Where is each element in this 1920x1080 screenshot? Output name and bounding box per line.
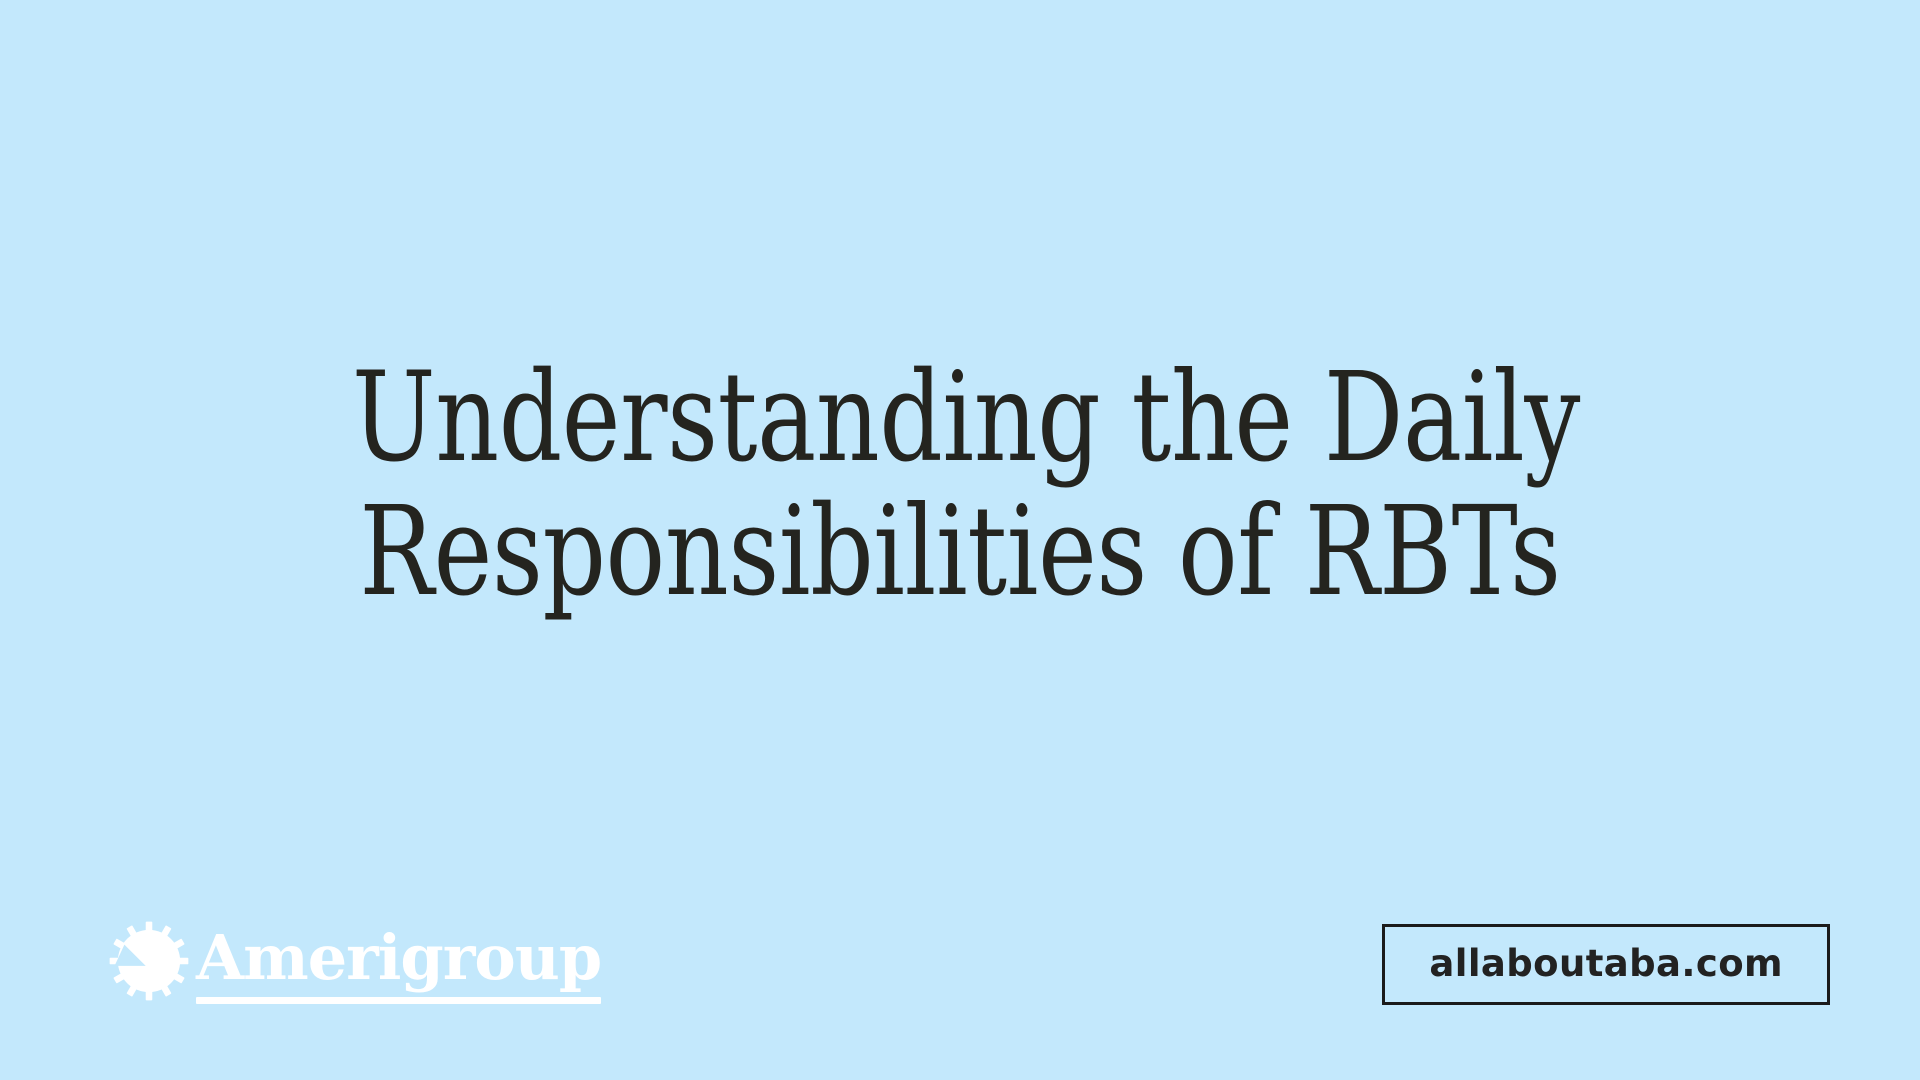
logo-text-wrap: Amerigroup [196,928,601,1004]
website-badge[interactable]: allaboutaba.com [1382,924,1830,1005]
page-title: Understanding the Daily Responsibilities… [0,355,1920,616]
slide-canvas: Understanding the Daily Responsibilities… [0,0,1920,1080]
logo-wordmark: Amerigroup [196,928,601,988]
title-line-1: Understanding the Daily [352,355,1568,481]
logo-underline-rule [196,997,601,1004]
sunburst-circle-icon [108,920,190,1002]
title-line-2: Responsibilities of RBTs [352,489,1568,615]
website-url-text: allaboutaba.com [1429,945,1783,982]
amerigroup-logo: Amerigroup [108,916,601,1008]
